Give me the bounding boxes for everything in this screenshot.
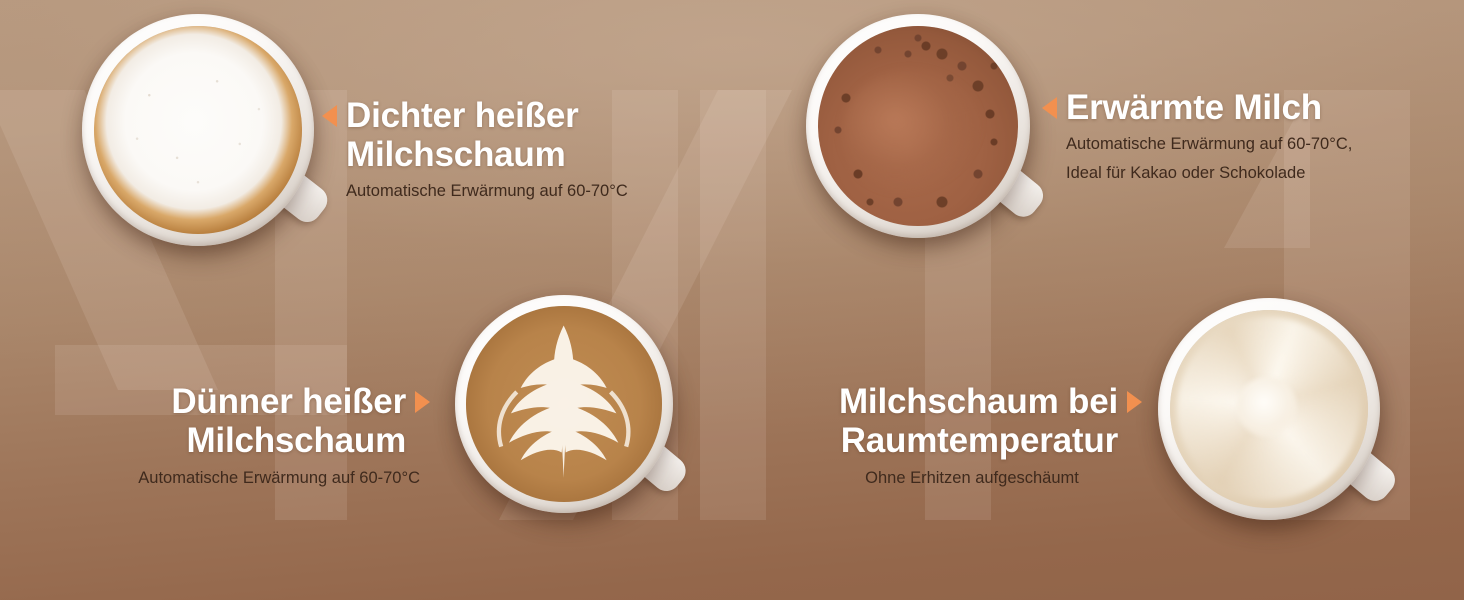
feature-headline-line2: Milchschaum: [346, 135, 628, 174]
feature-subline-line1: Automatische Erwärmung auf 60-70°C: [346, 181, 628, 203]
feature-headline-line1: Dünner heißer: [171, 382, 406, 421]
feature-subline-line1: Automatische Erwärmung auf 60-70°C: [92, 468, 420, 490]
cup-rim: [1158, 298, 1380, 520]
chocolate-bubbles: [818, 26, 1019, 227]
feature-headline-line2: Raumtemperatur: [826, 421, 1118, 460]
feature-subline-line1: Ohne Erhitzen aufgeschäumt: [826, 468, 1118, 490]
cup-hot-chocolate: [806, 14, 1030, 238]
product-feature-banner: Dichter heißer Milchschaum Automatische …: [0, 0, 1464, 600]
cup-interior: [94, 26, 302, 234]
latte-art-rosetta-icon: [466, 306, 661, 501]
cup-cold-foam: [1158, 298, 1380, 520]
watermark-letter-n-left-stem: [700, 90, 766, 520]
feature-headline-line1: Erwärmte Milch: [1066, 88, 1322, 127]
headline-row: Dichter heißer: [322, 96, 628, 135]
feature-headline-line2: Milchschaum: [92, 421, 406, 460]
feature-subline-line1: Automatische Erwärmung auf 60-70°C,: [1066, 134, 1352, 156]
cup-rim: [455, 295, 673, 513]
cup-rim: [82, 14, 314, 246]
headline-row: Erwärmte Milch: [1042, 88, 1352, 127]
feature-subline-line2: Ideal für Kakao oder Schokolade: [1066, 163, 1352, 185]
feature-headline-line1: Dichter heißer: [346, 96, 579, 135]
triangle-right-icon: [1127, 391, 1142, 413]
triangle-left-icon: [322, 105, 337, 127]
feature-headline-line1: Milchschaum bei: [839, 382, 1118, 421]
cup-interior: [1170, 310, 1369, 509]
cup-rim: [806, 14, 1030, 238]
feature-block-warmed-milk: Erwärmte Milch Automatische Erwärmung au…: [1042, 88, 1352, 185]
headline-row: Dünner heißer: [92, 382, 430, 421]
cup-latte-art: [455, 295, 673, 513]
cold-foam-center: [1237, 377, 1297, 437]
feature-block-thin-hot-milk-foam: Dünner heißer Milchschaum Automatische E…: [92, 382, 430, 490]
foam-texture: [111, 43, 286, 218]
cup-interior: [466, 306, 661, 501]
feature-block-room-temperature-foam: Milchschaum bei Raumtemperatur Ohne Erhi…: [826, 382, 1142, 490]
triangle-right-icon: [415, 391, 430, 413]
triangle-left-icon: [1042, 97, 1057, 119]
headline-row: Milchschaum bei: [826, 382, 1142, 421]
cup-dense-white-foam: [82, 14, 314, 246]
cup-interior: [818, 26, 1019, 227]
feature-block-dense-hot-milk-foam: Dichter heißer Milchschaum Automatische …: [322, 96, 628, 203]
